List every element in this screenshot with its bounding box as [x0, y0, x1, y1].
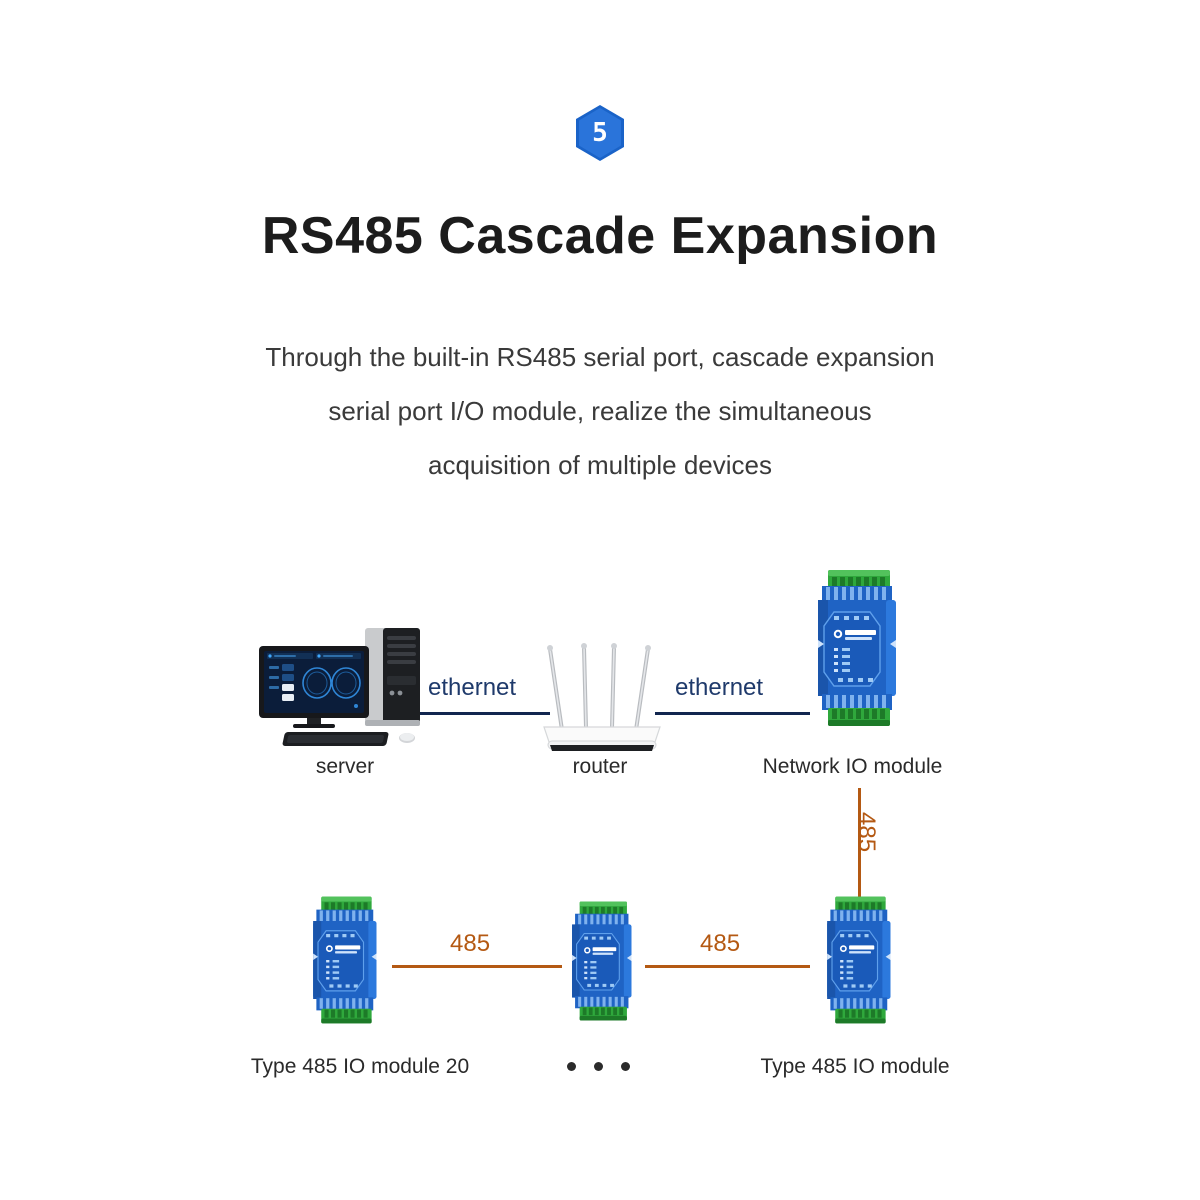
link-router-netio-label: ethernet [675, 674, 763, 702]
link-netio-485-label: 485 [852, 812, 880, 852]
device-io-module-20 [296, 895, 392, 1025]
device-label-server: server [250, 755, 440, 779]
device-server [255, 620, 435, 755]
device-label-router: router [510, 755, 690, 779]
link-router-netio-line [655, 712, 810, 715]
network-topology-diagram: ethernet ethernet [0, 540, 1200, 1140]
link-server-router-label: ethernet [428, 674, 516, 702]
ellipsis-dot-2 [594, 1062, 603, 1071]
device-label-io-module-20: Type 485 IO module 20 [225, 1055, 495, 1079]
device-label-network-io-module: Network IO module [735, 755, 970, 779]
link-mid-last-label: 485 [700, 930, 740, 958]
device-label-io-module-last: Type 485 IO module [730, 1055, 980, 1079]
badge-number: 5 [574, 104, 626, 162]
page-subtitle: Through the built-in RS485 serial port, … [150, 330, 1050, 492]
ellipsis-dot-3 [621, 1062, 630, 1071]
device-io-module-middle [557, 900, 645, 1022]
page-root: 5 RS485 Cascade Expansion Through the bu… [0, 0, 1200, 1200]
page-title: RS485 Cascade Expansion [0, 206, 1200, 266]
step-badge-container: 5 [0, 104, 1200, 167]
link-mod20-mid-label: 485 [450, 930, 490, 958]
ellipsis-indicator [567, 1062, 630, 1071]
device-io-module-last [810, 895, 906, 1025]
subtitle-line-2: serial port I/O module, realize the simu… [150, 384, 1050, 438]
device-router [528, 625, 676, 755]
device-network-io-module [808, 568, 904, 728]
link-mid-last-line [645, 965, 810, 968]
subtitle-line-1: Through the built-in RS485 serial port, … [150, 330, 1050, 384]
hexagon-badge-icon: 5 [574, 104, 626, 162]
subtitle-line-3: acquisition of multiple devices [150, 438, 1050, 492]
ellipsis-dot-1 [567, 1062, 576, 1071]
link-mod20-mid-line [392, 965, 562, 968]
